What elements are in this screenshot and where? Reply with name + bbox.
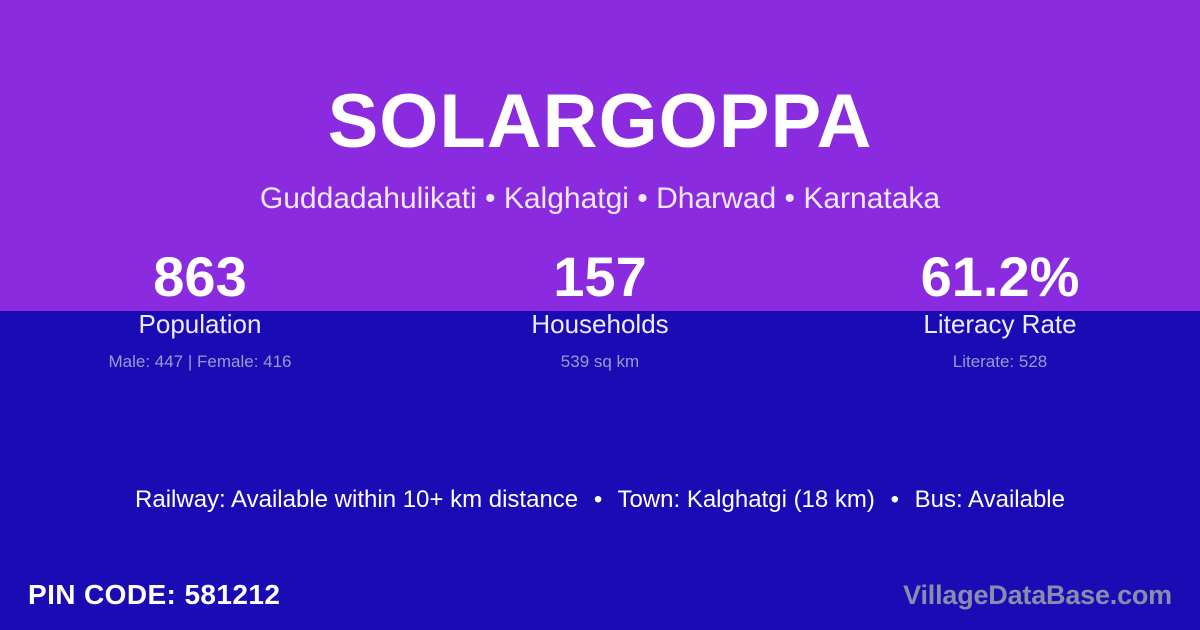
pin-code: PIN CODE: 581212 — [28, 578, 280, 612]
stat-population-label: Population — [0, 308, 400, 340]
amenity-railway: Railway: Available within 10+ km distanc… — [135, 486, 578, 513]
stat-literacy-label: Literacy Rate — [800, 308, 1200, 340]
amenity-bus: Bus: Available — [915, 486, 1065, 513]
amenity-separator-2: • — [882, 485, 908, 515]
stat-literacy-value: 61.2% — [800, 248, 1200, 306]
stat-population: 863 Population Male: 447 | Female: 416 — [0, 248, 400, 373]
stats-row: 863 Population Male: 447 | Female: 416 1… — [0, 248, 1200, 373]
amenities-row: Railway: Available within 10+ km distanc… — [0, 485, 1200, 515]
page-title: SOLARGOPPA — [0, 84, 1200, 160]
village-info-card: SOLARGOPPA Guddadahulikati • Kalghatgi •… — [0, 0, 1200, 630]
stat-literacy-count: Literate: 528 — [800, 351, 1200, 373]
location-breadcrumb: Guddadahulikati • Kalghatgi • Dharwad • … — [0, 182, 1200, 215]
stat-households-value: 157 — [400, 248, 800, 306]
stat-households: 157 Households 539 sq km — [400, 248, 800, 373]
stat-households-area: 539 sq km — [400, 351, 800, 373]
stat-population-breakdown: Male: 447 | Female: 416 — [0, 351, 400, 373]
amenity-town: Town: Kalghatgi (18 km) — [617, 486, 874, 513]
site-watermark: VillageDataBase.com — [903, 578, 1172, 612]
amenity-separator-1: • — [585, 485, 611, 515]
stat-households-label: Households — [400, 308, 800, 340]
stat-literacy: 61.2% Literacy Rate Literate: 528 — [800, 248, 1200, 373]
stat-population-value: 863 — [0, 248, 400, 306]
